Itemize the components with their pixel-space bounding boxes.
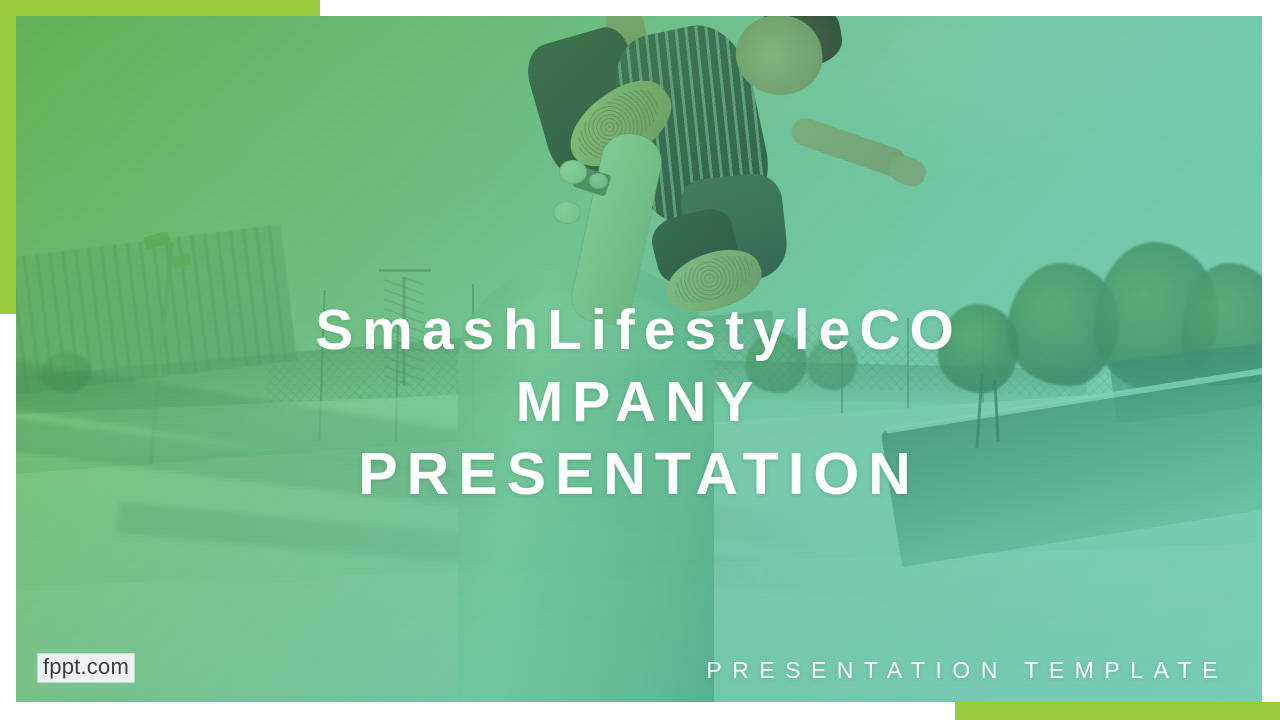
fppt-watermark: fppt.com: [38, 654, 134, 682]
accent-bar-bottom-right: [955, 702, 1280, 720]
title-line-3: PRESENTATION: [16, 438, 1262, 510]
accent-bar-top-left: [0, 0, 320, 16]
title-line-2: MPANY: [16, 366, 1262, 438]
accent-bar-left: [0, 0, 16, 314]
title-slide: SmashLifestyleCO MPANY PRESENTATION PRES…: [0, 0, 1280, 720]
slide-subtitle: PRESENTATION TEMPLATE: [706, 657, 1228, 684]
page-title: SmashLifestyleCO MPANY PRESENTATION: [16, 294, 1262, 510]
skateboarder-photo: SmashLifestyleCO MPANY PRESENTATION PRES…: [16, 16, 1262, 702]
title-line-1: SmashLifestyleCO: [16, 294, 1262, 366]
